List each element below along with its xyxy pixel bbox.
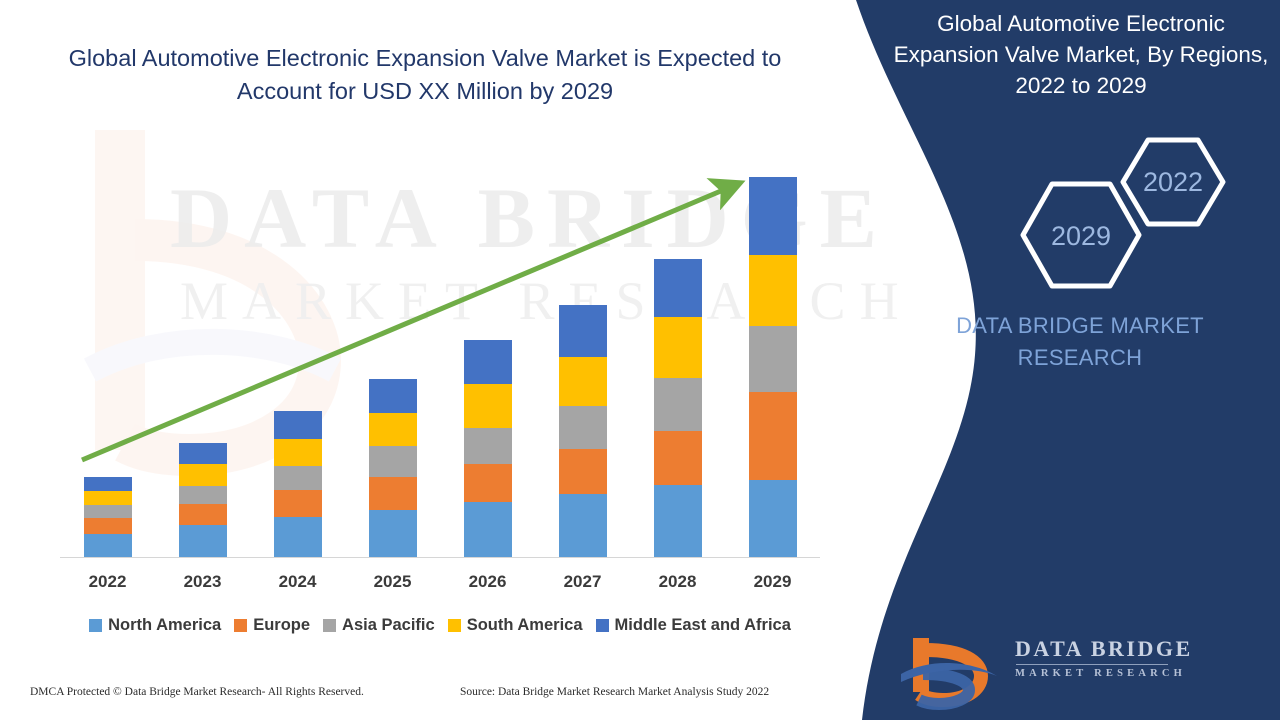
bar-segment [464,384,512,428]
logo-divider [1016,664,1168,665]
legend-item[interactable]: North America [89,616,221,635]
footer-source: Source: Data Bridge Market Research Mark… [460,686,769,698]
bar-segment [559,494,607,557]
logo-text-line2: MARKET RESEARCH [1015,668,1193,679]
side-panel-title: Global Automotive Electronic Expansion V… [885,8,1277,101]
bar-group [60,170,820,557]
stacked-bar [749,177,797,557]
x-axis-label-2022: 2022 [60,572,155,592]
stacked-bar [654,259,702,557]
bar-segment [179,464,227,485]
x-axis-label-2026: 2026 [440,572,535,592]
bar-segment [179,504,227,525]
legend-item[interactable]: South America [448,616,583,635]
bar-column-2023 [155,170,250,557]
bar-segment [369,379,417,414]
hexagon-2022-label: 2022 [1143,167,1203,197]
stacked-bar [464,340,512,557]
bar-segment [369,510,417,557]
stacked-bar [84,477,132,557]
x-axis-labels: 20222023202420252026202720282029 [60,572,820,592]
x-axis-line [60,557,820,558]
bar-segment [369,446,417,477]
legend-label: Europe [253,616,310,635]
bar-segment [559,449,607,494]
bar-segment [749,392,797,480]
legend-item[interactable]: Asia Pacific [323,616,435,635]
bar-segment [84,491,132,505]
legend-label: North America [108,616,221,635]
stacked-bar [274,411,322,557]
legend-label: Asia Pacific [342,616,435,635]
bar-segment [654,378,702,431]
legend-swatch-icon [448,619,461,632]
logo-mark-icon [885,630,1005,710]
bar-segment [84,518,132,533]
bar-segment [749,177,797,254]
legend-item[interactable]: Europe [234,616,310,635]
stacked-bar [369,379,417,557]
footer-copyright: DMCA Protected © Data Bridge Market Rese… [30,686,364,698]
bar-segment [559,305,607,357]
bar-column-2029 [725,170,820,557]
data-bridge-logo: DATA BRIDGE MARKET RESEARCH [885,630,1275,710]
chart-legend: North AmericaEuropeAsia PacificSouth Ame… [60,616,820,635]
bar-segment [274,466,322,489]
bar-segment [179,443,227,464]
bar-segment [84,505,132,518]
brand-line-1: DATA BRIDGE MARKET [900,310,1260,342]
legend-swatch-icon [323,619,336,632]
logo-text-line1: DATA BRIDGE [1015,636,1193,662]
bar-segment [274,490,322,517]
bar-column-2024 [250,170,345,557]
x-axis-label-2027: 2027 [535,572,630,592]
bar-segment [654,485,702,557]
bar-segment [749,326,797,392]
bar-segment [179,525,227,557]
bar-segment [654,431,702,485]
x-axis-label-2023: 2023 [155,572,250,592]
bar-segment [654,317,702,378]
bar-segment [84,477,132,491]
bar-segment [84,534,132,557]
legend-label: South America [467,616,583,635]
bar-segment [749,255,797,326]
bar-segment [274,411,322,438]
legend-swatch-icon [234,619,247,632]
bar-segment [274,517,322,557]
side-panel-content: Global Automotive Electronic Expansion V… [880,0,1280,720]
infographic-canvas: DATA BRIDGE MARKET RESEARCH Global Autom… [0,0,1280,720]
legend-label: Middle East and Africa [615,616,791,635]
bar-column-2028 [630,170,725,557]
brand-line-2: RESEARCH [900,342,1260,374]
bar-segment [464,502,512,557]
bar-segment [464,464,512,502]
x-axis-label-2024: 2024 [250,572,345,592]
bar-segment [464,340,512,384]
legend-swatch-icon [596,619,609,632]
legend-item[interactable]: Middle East and Africa [596,616,791,635]
chart-panel: DATA BRIDGE MARKET RESEARCH Global Autom… [0,0,900,720]
legend-swatch-icon [89,619,102,632]
bar-segment [559,357,607,406]
x-axis-label-2029: 2029 [725,572,820,592]
bar-segment [559,406,607,449]
logo-text: DATA BRIDGE MARKET RESEARCH [1015,636,1193,679]
bar-segment [274,439,322,466]
bar-segment [749,480,797,557]
bar-column-2026 [440,170,535,557]
hexagon-badges: 2022 2029 [880,130,1280,300]
stacked-bar [179,443,227,557]
bar-segment [369,477,417,511]
bar-segment [654,259,702,317]
x-axis-label-2025: 2025 [345,572,440,592]
stacked-bar [559,305,607,557]
bar-segment [179,486,227,504]
bar-segment [464,428,512,465]
hexagon-2029-label: 2029 [1051,221,1111,251]
x-axis-label-2028: 2028 [630,572,725,592]
brand-name: DATA BRIDGE MARKET RESEARCH [900,310,1260,374]
bar-column-2025 [345,170,440,557]
bar-segment [369,413,417,446]
bar-column-2027 [535,170,630,557]
bar-column-2022 [60,170,155,557]
chart-title: Global Automotive Electronic Expansion V… [60,42,790,109]
